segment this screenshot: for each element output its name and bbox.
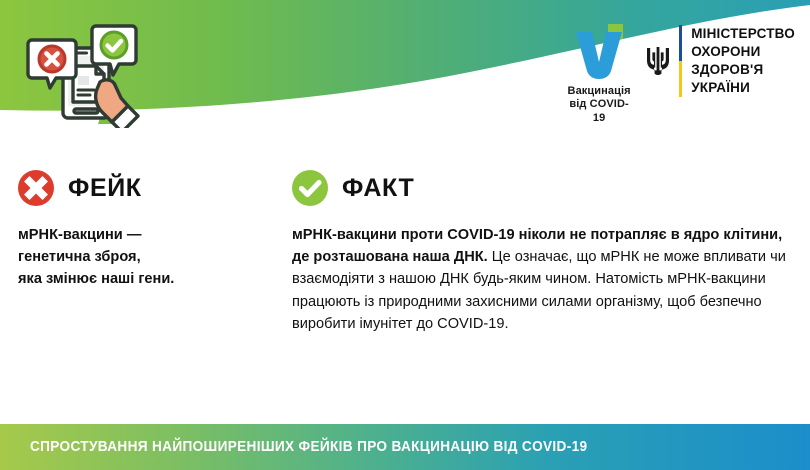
fake-body-line-3: яка змінює наші гени.	[18, 268, 268, 290]
vaccination-v-logo	[568, 24, 630, 80]
vac-caption-line-2: від COVID-19	[565, 98, 633, 125]
vac-caption-line-1: Вакцинація	[565, 85, 633, 98]
fact-title: ФАКТ	[342, 176, 414, 201]
fake-body-line-1: мРНК-вакцини —	[18, 224, 268, 246]
flag-color-divider	[679, 25, 682, 97]
ministry-line-2: ОХОРОНИ	[691, 43, 795, 61]
vaccination-logo: Вакцинація від COVID-19	[565, 22, 633, 125]
footer-caption: СПРОСТУВАННЯ НАЙПОШИРЕНІШИХ ФЕЙКІВ ПРО В…	[30, 424, 587, 470]
fake-column: ФЕЙК мРНК-вакцини — генетична зброя, яка…	[18, 168, 268, 291]
fake-body-line-2: генетична зброя,	[18, 246, 268, 268]
fact-heading: ФАКТ	[292, 168, 792, 208]
ministry-name: МІНІСТЕРСТВО ОХОРОНИ ЗДОРОВ'Я УКРАЇНИ	[691, 25, 795, 97]
ministry-of-health-logo: МІНІСТЕРСТВО ОХОРОНИ ЗДОРОВ'Я УКРАЇНИ	[645, 22, 795, 97]
red-cross-circle-icon	[18, 170, 54, 206]
ukraine-trident-emblem	[645, 45, 671, 77]
fake-title: ФЕЙК	[68, 176, 142, 201]
content-area: ФЕЙК мРНК-вакцини — генетична зброя, яка…	[0, 160, 810, 410]
green-check-circle-icon	[292, 170, 328, 206]
fake-heading: ФЕЙК	[18, 168, 268, 208]
ministry-line-1: МІНІСТЕРСТВО	[691, 25, 795, 43]
logo-lockup: Вакцинація від COVID-19 МІНІСТЕРСТВО ОХО…	[565, 22, 795, 112]
vaccination-logo-caption: Вакцинація від COVID-19	[565, 85, 633, 125]
ministry-line-3: ЗДОРОВ'Я	[691, 61, 795, 79]
footer-banner: СПРОСТУВАННЯ НАЙПОШИРЕНІШИХ ФЕЙКІВ ПРО В…	[0, 424, 810, 470]
fake-body-text: мРНК-вакцини — генетична зброя, яка змін…	[18, 224, 268, 291]
header-banner: Вакцинація від COVID-19 МІНІСТЕРСТВО ОХО…	[0, 0, 810, 140]
ministry-line-4: УКРАЇНИ	[691, 79, 795, 97]
fact-column: ФАКТ мРНК-вакцини проти COVID-19 ніколи …	[292, 168, 792, 335]
header-illustration	[16, 18, 146, 128]
fact-body-text: мРНК-вакцини проти COVID-19 ніколи не по…	[292, 224, 792, 335]
